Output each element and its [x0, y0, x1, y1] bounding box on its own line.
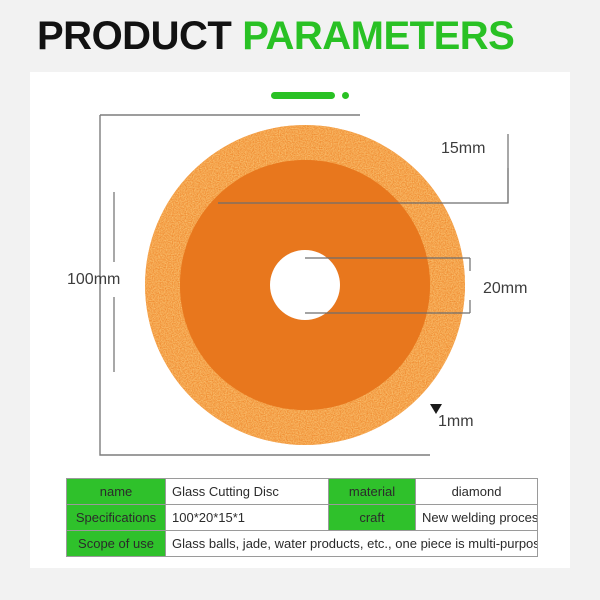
row-value-material: diamond [416, 479, 538, 505]
table-row: Scope of use Glass balls, jade, water pr… [67, 531, 538, 557]
page-title: PRODUCT PARAMETERS [0, 0, 600, 72]
content-panel: 100mm 15mm 20mm 1mm name Glass Cutting D… [30, 72, 570, 568]
row-label-specifications: Specifications [67, 505, 166, 531]
title-word-product: PRODUCT [37, 16, 231, 56]
dimension-label-outer-diameter: 100mm [67, 271, 120, 289]
dimension-label-bore-diameter: 20mm [483, 280, 527, 298]
product-diagram: 100mm 15mm 20mm 1mm [30, 72, 570, 472]
row-value-scope-of-use: Glass balls, jade, water products, etc.,… [166, 531, 538, 557]
row-value-specifications: 100*20*15*1 [166, 505, 329, 531]
row-label-craft: craft [329, 505, 416, 531]
table-row: Specifications 100*20*15*1 craft New wel… [67, 505, 538, 531]
dimension-label-rim-width: 15mm [441, 140, 485, 158]
row-label-scope-of-use: Scope of use [67, 531, 166, 557]
title-word-parameters: PARAMETERS [242, 16, 514, 56]
row-value-craft: New welding process [416, 505, 538, 531]
specification-table: name Glass Cutting Disc material diamond… [66, 478, 538, 557]
table-row: name Glass Cutting Disc material diamond [67, 479, 538, 505]
disc-center-hole [270, 250, 340, 320]
dimension-label-thickness: 1mm [438, 413, 474, 431]
row-label-material: material [329, 479, 416, 505]
row-label-name: name [67, 479, 166, 505]
row-value-name: Glass Cutting Disc [166, 479, 329, 505]
